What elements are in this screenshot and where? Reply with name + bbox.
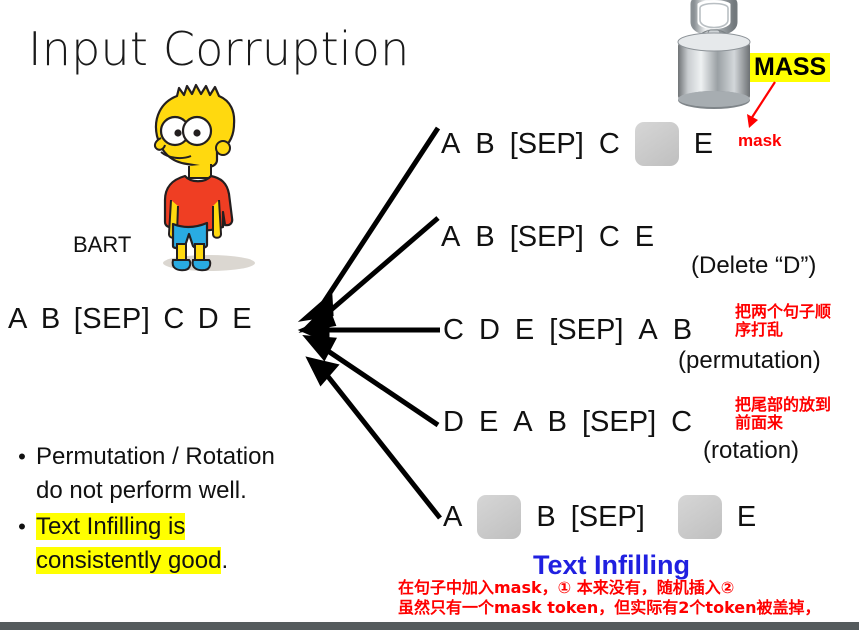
token: E	[479, 408, 498, 437]
permutation-cn-note: 把两个句子顺 序打乱	[735, 303, 831, 339]
source-token: C	[163, 303, 184, 335]
token: C	[443, 316, 464, 345]
bullet-line-2: do not perform well.	[36, 477, 247, 504]
permutation-cn-line-2: 序打乱	[735, 321, 831, 339]
token: B	[548, 408, 567, 437]
token: C	[599, 223, 620, 252]
bullet-period: .	[221, 547, 228, 574]
source-token: B	[41, 303, 61, 335]
row-permutation: CDE[SEP]AB	[443, 315, 707, 345]
token: [SEP]	[510, 223, 584, 252]
delete-note: (Delete “D”)	[691, 252, 816, 280]
text-infilling-title: Text Infilling	[533, 550, 690, 581]
infilling-cn-line-2: 虽然只有一个mask token，但实际有2个token被盖掉，	[398, 598, 821, 618]
rotation-note: (rotation)	[703, 437, 799, 465]
token: E	[635, 223, 654, 252]
source-sequence: AB[SEP]CDE	[8, 303, 265, 336]
bart-simpson-icon	[131, 82, 263, 272]
row-mask: AB[SEP]CE	[441, 122, 728, 166]
token: E	[737, 503, 756, 532]
mask-token-box	[678, 495, 722, 539]
token: [SEP]	[571, 503, 645, 532]
permutation-note: (permutation)	[678, 347, 821, 375]
token: D	[479, 316, 500, 345]
token: [SEP]	[549, 316, 623, 345]
source-token: E	[232, 303, 252, 335]
mask-caption: mask	[738, 131, 781, 151]
bullet-list: • Permutation / Rotation do not perform …	[8, 440, 408, 580]
bullet-line-1: Permutation / Rotation	[36, 443, 275, 470]
infilling-cn-line-1: 在句子中加入mask，① 本来没有，随机插入②	[398, 578, 821, 598]
source-token: A	[8, 303, 28, 335]
bullet-text: Permutation / Rotation do not perform we…	[36, 440, 275, 508]
permutation-cn-line-1: 把两个句子顺	[735, 303, 831, 321]
row-rotation: DEAB[SEP]C	[443, 407, 707, 437]
bottom-bar	[0, 622, 859, 630]
bullet-marker: •	[8, 440, 36, 474]
list-item: • Permutation / Rotation do not perform …	[8, 440, 408, 508]
token: B	[536, 503, 555, 532]
token: B	[475, 130, 494, 159]
infilling-cn-note: 在句子中加入mask，① 本来没有，随机插入② 虽然只有一个mask token…	[398, 578, 821, 617]
bart-label: BART	[73, 232, 131, 258]
row-delete: AB[SEP]CE	[441, 222, 669, 252]
bullet-text: Text Infilling is consistently good.	[36, 510, 228, 578]
row-infilling: AB[SEP]E	[443, 495, 771, 539]
token: B	[673, 316, 692, 345]
token: B	[475, 223, 494, 252]
bullet-line-1-highlighted: Text Infilling is	[36, 513, 185, 540]
token: D	[443, 408, 464, 437]
mask-token-box	[635, 122, 679, 166]
source-token: D	[198, 303, 219, 335]
token: C	[599, 130, 620, 159]
token: [SEP]	[582, 408, 656, 437]
slide-canvas: Input Corruption BART	[0, 0, 859, 630]
page-title: Input Corruption	[28, 22, 410, 76]
token: A	[443, 503, 462, 532]
source-token: [SEP]	[74, 303, 151, 335]
token: E	[515, 316, 534, 345]
mask-token-box	[477, 495, 521, 539]
rotation-cn-line-1: 把尾部的放到	[735, 396, 831, 414]
token: A	[441, 223, 460, 252]
token: A	[638, 316, 657, 345]
rotation-cn-line-2: 前面来	[735, 414, 831, 432]
bullet-line-2-highlighted: consistently good	[36, 547, 221, 574]
token: A	[513, 408, 532, 437]
rotation-cn-note: 把尾部的放到 前面来	[735, 396, 831, 432]
token: C	[671, 408, 692, 437]
token: E	[694, 130, 713, 159]
bullet-marker: •	[8, 510, 36, 544]
token: A	[441, 130, 460, 159]
token: [SEP]	[510, 130, 584, 159]
list-item: • Text Infilling is consistently good.	[8, 510, 408, 578]
mass-to-mask-arrow-icon	[735, 78, 795, 134]
